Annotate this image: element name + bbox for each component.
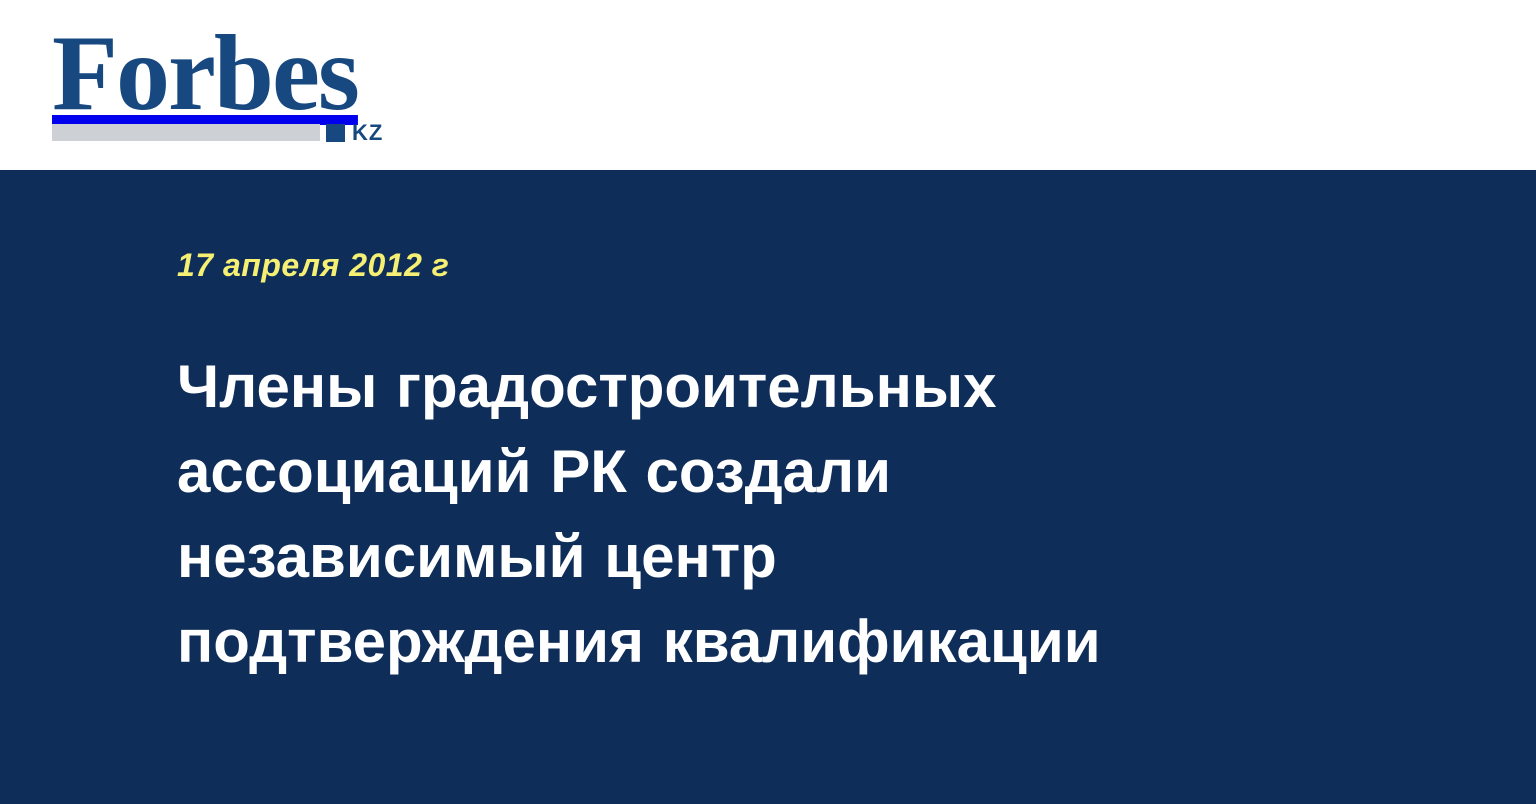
site-masthead: Forbes KZ [0,0,1536,170]
article-page: Forbes KZ 17 апреля 2012 г Члены градост… [0,0,1536,804]
forbes-wordmark: Forbes [52,22,412,126]
article-hero-content: 17 апреля 2012 г Члены градостроительных… [177,248,1456,684]
logo-square-icon [326,124,345,142]
article-hero: 17 апреля 2012 г Члены градостроительных… [0,170,1536,804]
article-date: 17 апреля 2012 г [177,248,1456,282]
logo-rule [52,124,320,141]
site-logo-link[interactable]: Forbes KZ [52,22,412,148]
logo-locale-label: KZ [352,122,383,144]
article-headline: Члены градостроительных ассоциаций РК со… [177,344,1177,684]
